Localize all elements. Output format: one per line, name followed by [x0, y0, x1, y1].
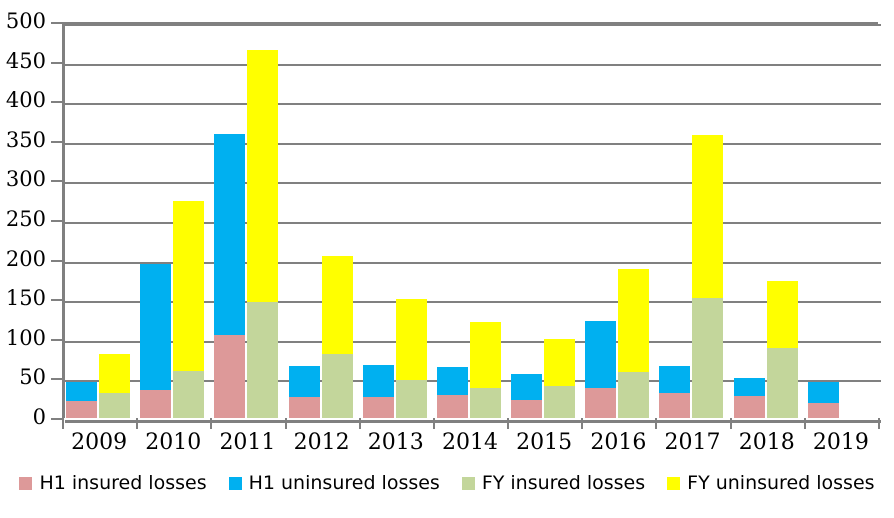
segment-fy-insured-2018 — [767, 348, 798, 418]
bar-group-2012 — [285, 22, 359, 418]
legend-item-2[interactable]: FY insured losses — [462, 474, 645, 493]
y-tick-mark-400 — [51, 101, 62, 103]
segment-fy-uninsured-2017 — [692, 135, 723, 298]
segment-h1-uninsured-2010 — [140, 264, 171, 389]
x-tick-label-2009: 2009 — [62, 432, 136, 454]
segment-fy-uninsured-2012 — [322, 256, 353, 354]
bar-fy-2013[interactable] — [396, 299, 427, 418]
segment-h1-uninsured-2011 — [214, 134, 245, 334]
segment-fy-insured-2016 — [618, 372, 649, 418]
y-tick-label-450: 450 — [0, 51, 46, 72]
gridline-0 — [65, 420, 881, 423]
segment-h1-insured-2018 — [734, 396, 765, 418]
segment-h1-insured-2013 — [363, 397, 394, 418]
bar-fy-2018[interactable] — [767, 281, 798, 418]
bars-layer — [62, 22, 878, 418]
x-tick-mark-2018 — [730, 418, 732, 429]
segment-h1-uninsured-2015 — [511, 374, 542, 400]
x-tick-label-2015: 2015 — [507, 432, 581, 454]
x-tick-mark-end — [878, 418, 880, 429]
x-axis: 2009201020112012201320142015201620172018… — [62, 418, 878, 419]
bar-h1-2013[interactable] — [363, 365, 394, 418]
y-tick-mark-150 — [51, 299, 62, 301]
y-tick-label-350: 350 — [0, 130, 46, 151]
segment-fy-insured-2009 — [99, 393, 130, 418]
legend-swatch-icon-2 — [462, 477, 475, 490]
segment-fy-uninsured-2010 — [173, 201, 204, 371]
bar-group-2016 — [581, 22, 655, 418]
y-tick-label-500: 500 — [0, 11, 46, 32]
legend-label-0: H1 insured losses — [39, 474, 206, 493]
segment-h1-insured-2016 — [585, 388, 616, 418]
y-tick-label-150: 150 — [0, 288, 46, 309]
segment-h1-uninsured-2017 — [659, 366, 690, 394]
y-tick-mark-300 — [51, 180, 62, 182]
x-tick-mark-2013 — [359, 418, 361, 429]
bar-h1-2015[interactable] — [511, 374, 542, 418]
bar-group-2011 — [210, 22, 284, 418]
segment-fy-uninsured-2015 — [544, 339, 575, 387]
y-tick-label-400: 400 — [0, 90, 46, 111]
segment-fy-insured-2010 — [173, 371, 204, 418]
bar-fy-2017[interactable] — [692, 135, 723, 418]
stacked-bar-chart: 050100150200250300350400450500 200920102… — [0, 0, 894, 518]
segment-h1-insured-2015 — [511, 400, 542, 418]
bar-group-2018 — [730, 22, 804, 418]
legend-item-3[interactable]: FY uninsured losses — [667, 474, 874, 493]
bar-fy-2009[interactable] — [99, 354, 130, 418]
segment-h1-uninsured-2018 — [734, 378, 765, 396]
bar-group-2017 — [655, 22, 729, 418]
bar-h1-2010[interactable] — [140, 264, 171, 418]
bar-h1-2011[interactable] — [214, 134, 245, 418]
bar-h1-2016[interactable] — [585, 321, 616, 418]
bar-fy-2010[interactable] — [173, 201, 204, 418]
legend-label-1: H1 uninsured losses — [249, 474, 440, 493]
legend-item-0[interactable]: H1 insured losses — [19, 474, 206, 493]
segment-h1-insured-2014 — [437, 395, 468, 418]
y-tick-mark-50 — [51, 378, 62, 380]
segment-h1-uninsured-2014 — [437, 367, 468, 396]
bar-h1-2009[interactable] — [66, 382, 97, 418]
segment-h1-insured-2012 — [289, 397, 320, 418]
x-tick-label-2016: 2016 — [581, 432, 655, 454]
bar-h1-2019[interactable] — [808, 382, 839, 418]
y-tick-mark-0 — [51, 418, 62, 420]
bar-fy-2014[interactable] — [470, 322, 501, 418]
bar-group-2019 — [804, 22, 878, 418]
bar-h1-2017[interactable] — [659, 366, 690, 418]
legend-swatch-icon-0 — [19, 477, 32, 490]
bar-h1-2014[interactable] — [437, 367, 468, 418]
y-tick-mark-250 — [51, 220, 62, 222]
segment-fy-uninsured-2018 — [767, 281, 798, 348]
y-tick-label-300: 300 — [0, 169, 46, 190]
segment-fy-insured-2017 — [692, 298, 723, 418]
bar-group-2009 — [62, 22, 136, 418]
bar-group-2014 — [433, 22, 507, 418]
segment-h1-insured-2010 — [140, 390, 171, 419]
segment-fy-uninsured-2014 — [470, 322, 501, 388]
x-tick-label-2011: 2011 — [210, 432, 284, 454]
x-tick-mark-2010 — [136, 418, 138, 429]
bar-fy-2011[interactable] — [247, 50, 278, 418]
bar-fy-2016[interactable] — [618, 269, 649, 418]
y-tick-label-200: 200 — [0, 249, 46, 270]
bar-group-2015 — [507, 22, 581, 418]
segment-fy-insured-2015 — [544, 386, 575, 418]
y-tick-mark-500 — [51, 22, 62, 24]
segment-h1-insured-2017 — [659, 393, 690, 418]
segment-h1-uninsured-2013 — [363, 365, 394, 397]
legend-item-1[interactable]: H1 uninsured losses — [229, 474, 440, 493]
y-tick-mark-350 — [51, 141, 62, 143]
segment-fy-uninsured-2009 — [99, 354, 130, 393]
legend-label-3: FY uninsured losses — [687, 474, 874, 493]
segment-h1-uninsured-2019 — [808, 382, 839, 403]
legend-swatch-icon-1 — [229, 477, 242, 490]
x-tick-label-2019: 2019 — [804, 432, 878, 454]
segment-fy-insured-2013 — [396, 380, 427, 418]
x-tick-mark-2019 — [804, 418, 806, 429]
segment-h1-insured-2019 — [808, 403, 839, 418]
segment-fy-insured-2014 — [470, 388, 501, 418]
y-tick-label-250: 250 — [0, 209, 46, 230]
x-tick-mark-2012 — [285, 418, 287, 429]
y-axis: 050100150200250300350400450500 — [0, 0, 46, 518]
y-tick-label-0: 0 — [0, 407, 46, 428]
y-tick-mark-100 — [51, 339, 62, 341]
segment-fy-uninsured-2016 — [618, 269, 649, 372]
segment-h1-uninsured-2012 — [289, 366, 320, 397]
y-tick-label-100: 100 — [0, 328, 46, 349]
bar-group-2013 — [359, 22, 433, 418]
y-tick-mark-200 — [51, 260, 62, 262]
y-tick-mark-450 — [51, 62, 62, 64]
segment-h1-uninsured-2016 — [585, 321, 616, 388]
segment-fy-uninsured-2013 — [396, 299, 427, 380]
legend-label-2: FY insured losses — [482, 474, 645, 493]
legend-swatch-icon-3 — [667, 477, 680, 490]
y-tick-label-50: 50 — [0, 367, 46, 388]
segment-h1-insured-2011 — [214, 335, 245, 418]
x-tick-label-2014: 2014 — [433, 432, 507, 454]
bar-fy-2012[interactable] — [322, 256, 353, 418]
bar-fy-2015[interactable] — [544, 339, 575, 418]
x-tick-label-2017: 2017 — [655, 432, 729, 454]
bar-h1-2018[interactable] — [734, 378, 765, 418]
x-tick-mark-2016 — [581, 418, 583, 429]
bar-group-2010 — [136, 22, 210, 418]
x-tick-label-2012: 2012 — [285, 432, 359, 454]
chart-legend: H1 insured lossesH1 uninsured lossesFY i… — [0, 474, 894, 493]
x-tick-mark-2011 — [210, 418, 212, 429]
x-tick-mark-2014 — [433, 418, 435, 429]
x-tick-label-2018: 2018 — [730, 432, 804, 454]
x-tick-mark-2009 — [62, 418, 64, 429]
segment-h1-insured-2009 — [66, 401, 97, 418]
x-tick-mark-2017 — [655, 418, 657, 429]
x-tick-label-2010: 2010 — [136, 432, 210, 454]
x-tick-label-2013: 2013 — [359, 432, 433, 454]
segment-fy-insured-2012 — [322, 354, 353, 418]
segment-h1-uninsured-2009 — [66, 382, 97, 401]
bar-h1-2012[interactable] — [289, 366, 320, 418]
segment-fy-uninsured-2011 — [247, 50, 278, 302]
segment-fy-insured-2011 — [247, 302, 278, 418]
x-tick-mark-2015 — [507, 418, 509, 429]
